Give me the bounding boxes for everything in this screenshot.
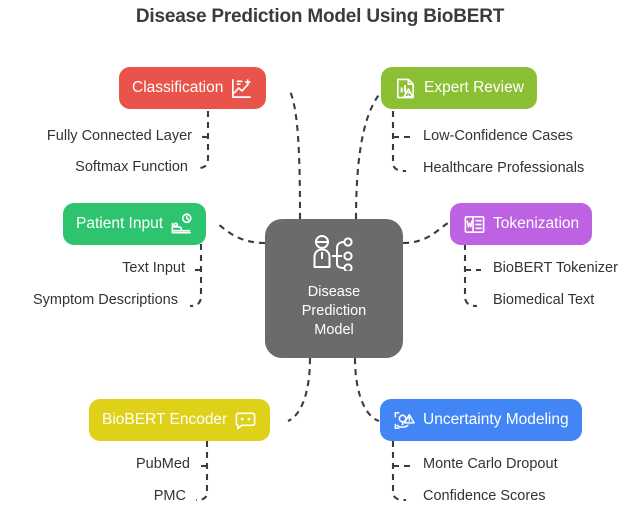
speech-bubble-icon [234, 409, 257, 432]
wire-tokenization-children [465, 244, 477, 306]
mindmap-diagram: Disease Prediction Model Using BioBERT [0, 0, 640, 505]
branch-classification-label: Classification [132, 79, 223, 97]
leaf-confidence-scores: Confidence Scores [423, 488, 546, 504]
wire-center-tokenization [403, 223, 448, 243]
branch-expert-review-label: Expert Review [424, 79, 524, 97]
leaf-monte-carlo-dropout-label: Monte Carlo Dropout [423, 456, 558, 472]
wire-center-patient-input [218, 224, 265, 243]
center-node-label: Disease Prediction Model [302, 283, 366, 340]
leaf-biomedical-text: Biomedical Text [493, 292, 594, 308]
branch-uncertainty-modeling-label: Uncertainty Modeling [423, 411, 569, 429]
leaf-low-confidence-cases-label: Low-Confidence Cases [423, 128, 573, 144]
patient-network-icon [311, 235, 357, 276]
branch-classification[interactable]: Classification [119, 67, 266, 109]
center-node-label-line1: Disease [302, 283, 366, 302]
wire-patient-input-children [190, 244, 201, 306]
page-title: Disease Prediction Model Using BioBERT [0, 6, 640, 28]
uncertainty-warning-icon [393, 409, 416, 432]
leaf-pmc-label: PMC [154, 488, 186, 504]
leaf-text-input: Text Input [0, 260, 185, 276]
wire-center-classification [290, 91, 300, 219]
branch-patient-input[interactable]: Patient Input [63, 203, 206, 245]
leaf-pubmed-label: PubMed [136, 456, 190, 472]
wire-expert-review-children [393, 111, 406, 171]
leaf-text-input-label: Text Input [122, 260, 185, 276]
report-warning-icon [394, 77, 417, 100]
wire-center-biobert-encoder [288, 358, 310, 421]
leaf-pmc: PMC [0, 488, 186, 504]
wire-biobert-encoder-children [196, 441, 207, 500]
leaf-softmax-function-label: Softmax Function [75, 159, 188, 175]
center-node-disease-prediction-model[interactable]: Disease Prediction Model [265, 219, 403, 358]
leaf-biomedical-text-label: Biomedical Text [493, 292, 594, 308]
medical-chart-plus-icon [230, 77, 253, 100]
leaf-low-confidence-cases: Low-Confidence Cases [423, 128, 573, 144]
branch-biobert-encoder[interactable]: BioBERT Encoder [89, 399, 270, 441]
hospital-bed-clock-icon [170, 213, 193, 236]
leaf-symptom-descriptions: Symptom Descriptions [0, 292, 178, 308]
leaf-fully-connected-layer: Fully Connected Layer [0, 128, 192, 144]
leaf-symptom-descriptions-label: Symptom Descriptions [33, 292, 178, 308]
wire-center-uncertainty-modeling [355, 358, 379, 421]
leaf-biobert-tokenizer-label: BioBERT Tokenizer [493, 260, 618, 276]
branch-tokenization-label: Tokenization [493, 215, 579, 233]
center-node-label-line2: Prediction [302, 302, 366, 321]
leaf-healthcare-professionals: Healthcare Professionals [423, 160, 584, 176]
word-document-icon [463, 213, 486, 236]
leaf-fully-connected-layer-label: Fully Connected Layer [47, 128, 192, 144]
branch-patient-input-label: Patient Input [76, 215, 163, 233]
leaf-monte-carlo-dropout: Monte Carlo Dropout [423, 456, 558, 472]
branch-expert-review[interactable]: Expert Review [381, 67, 537, 109]
wire-center-expert-review [356, 91, 382, 219]
leaf-pubmed: PubMed [0, 456, 190, 472]
leaf-confidence-scores-label: Confidence Scores [423, 488, 546, 504]
leaf-healthcare-professionals-label: Healthcare Professionals [423, 160, 584, 176]
branch-tokenization[interactable]: Tokenization [450, 203, 592, 245]
leaf-biobert-tokenizer: BioBERT Tokenizer [493, 260, 618, 276]
wire-classification-children [198, 111, 208, 168]
center-node-label-line3: Model [302, 321, 366, 340]
leaf-softmax-function: Softmax Function [0, 159, 188, 175]
branch-uncertainty-modeling[interactable]: Uncertainty Modeling [380, 399, 582, 441]
wire-uncertainty-modeling-children [393, 441, 406, 500]
branch-biobert-encoder-label: BioBERT Encoder [102, 411, 227, 429]
